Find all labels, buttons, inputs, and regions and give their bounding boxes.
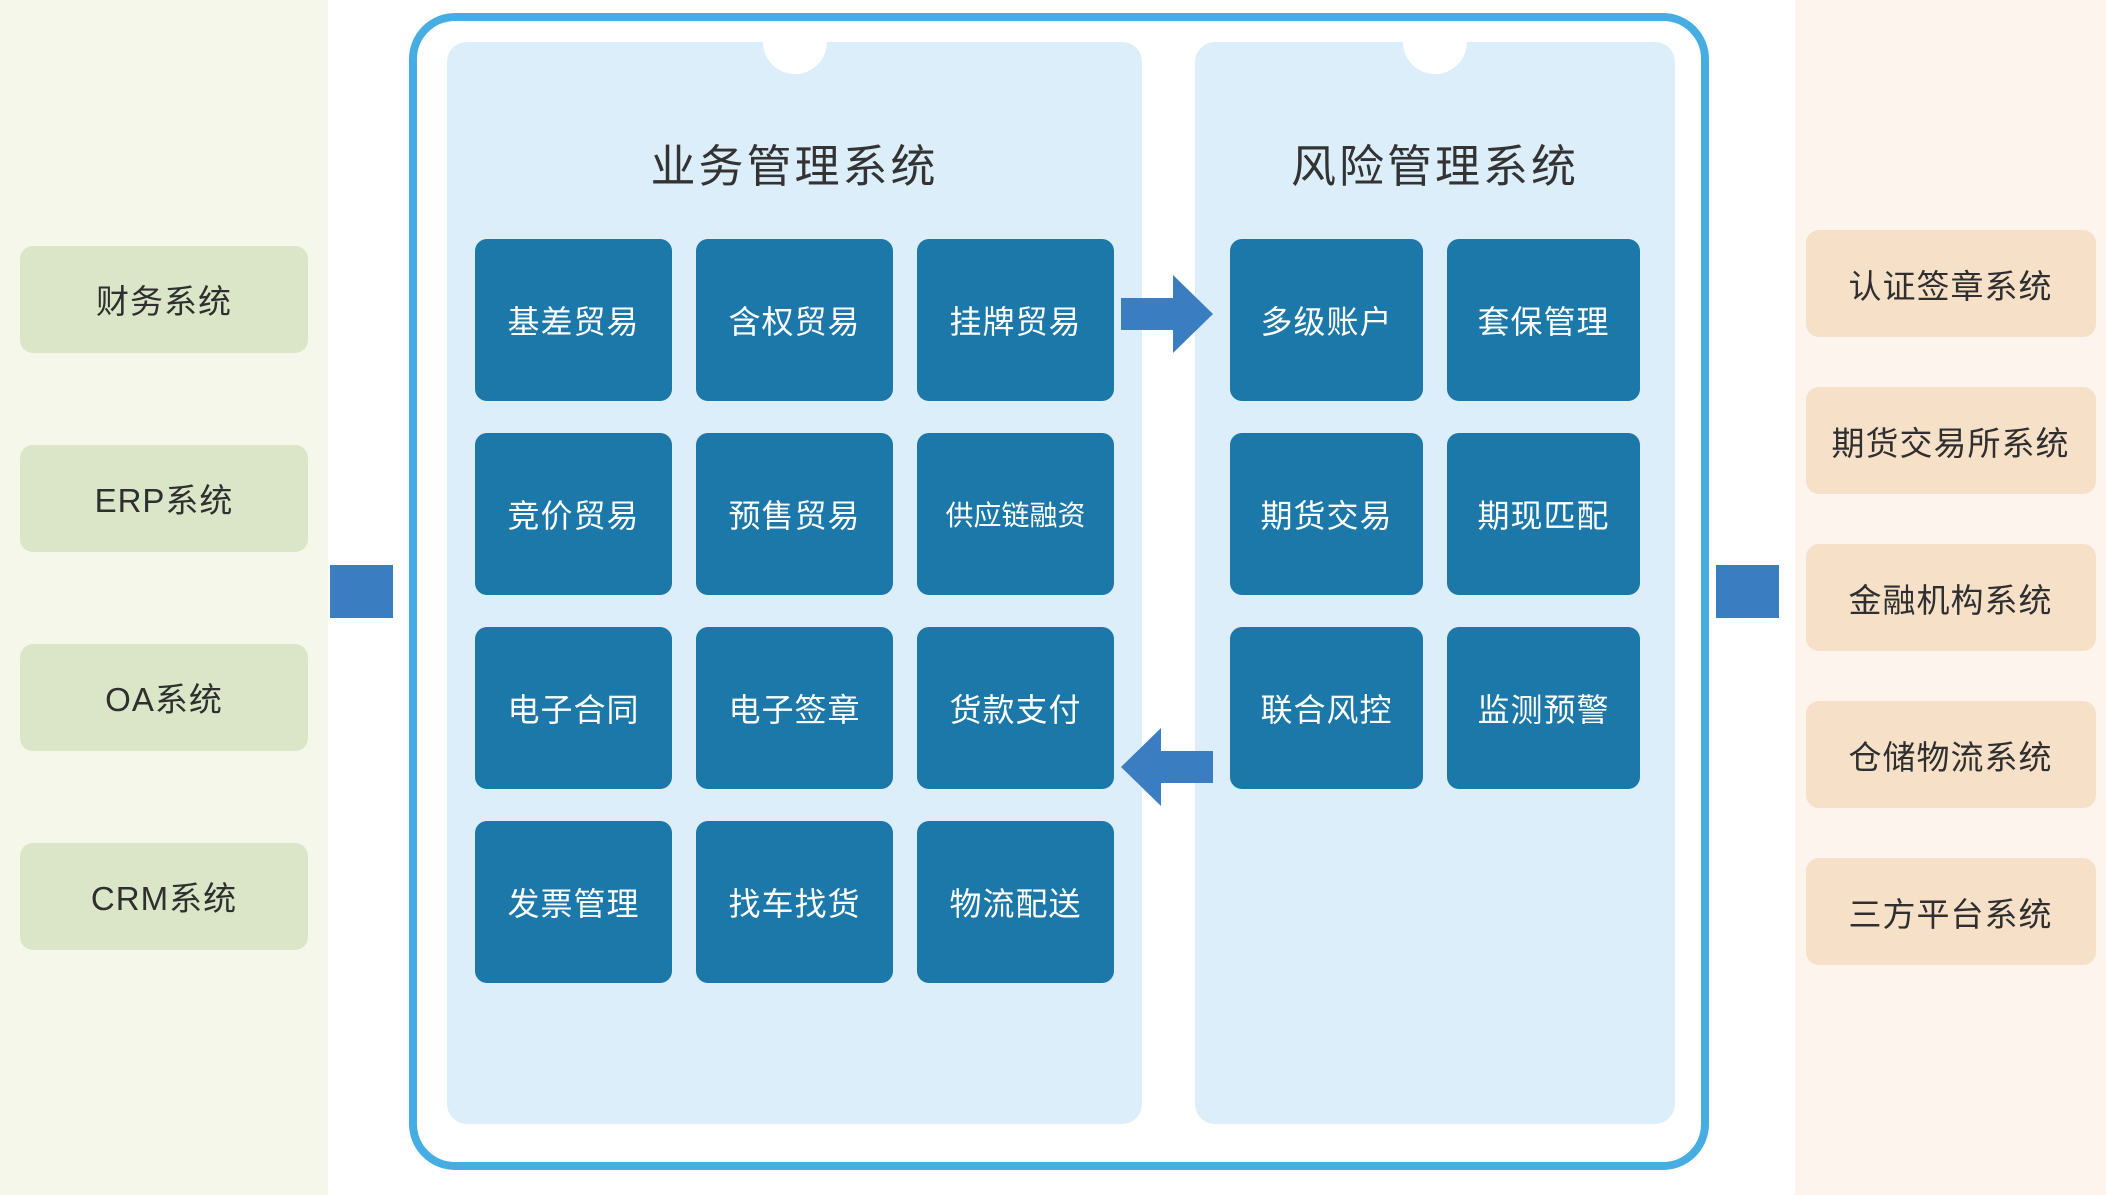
tile-label: 找车找货 — [728, 879, 860, 925]
tile-zhaochezhaohuo[interactable]: 找车找货 — [696, 821, 893, 983]
tile-wuliupeisong[interactable]: 物流配送 — [917, 821, 1114, 983]
tile-label: 监测预警 — [1477, 685, 1609, 731]
right-system-card-5[interactable]: 三方平台系统 — [1806, 858, 2096, 965]
panel-container: 业务管理系统 基差贸易 含权贸易 挂牌贸易 竞价贸易 预售贸易 供应链融资 电子… — [447, 42, 1675, 1124]
left-system-card-4[interactable]: CRM系统 — [20, 843, 308, 950]
right-system-label-3: 金融机构系统 — [1849, 574, 2053, 622]
right-system-card-3[interactable]: 金融机构系统 — [1806, 544, 2096, 651]
right-system-card-4[interactable]: 仓储物流系统 — [1806, 701, 2096, 808]
left-system-label-1: 财务系统 — [96, 275, 232, 323]
tile-label: 电子签章 — [728, 685, 860, 731]
tile-label: 套保管理 — [1477, 297, 1609, 343]
arrow-right-icon — [1121, 275, 1213, 353]
left-system-rail: 财务系统 ERP系统 OA系统 CRM系统 — [0, 0, 328, 1195]
tile-jiancyujing[interactable]: 监测预警 — [1447, 627, 1640, 789]
tile-jichamaoyi[interactable]: 基差贸易 — [475, 239, 672, 401]
tile-label: 竞价贸易 — [507, 491, 639, 537]
tile-lianhefengkong[interactable]: 联合风控 — [1230, 627, 1423, 789]
left-system-card-3[interactable]: OA系统 — [20, 644, 308, 751]
tile-label: 期现匹配 — [1477, 491, 1609, 537]
tile-label: 挂牌贸易 — [949, 297, 1081, 343]
risk-tile-grid: 多级账户 套保管理 期货交易 期现匹配 联合风控 监测预警 — [1195, 239, 1675, 789]
tile-qixianpipei[interactable]: 期现匹配 — [1447, 433, 1640, 595]
left-system-label-2: ERP系统 — [95, 474, 234, 522]
right-system-rail: 认证签章系统 期货交易所系统 金融机构系统 仓储物流系统 三方平台系统 — [1795, 0, 2106, 1195]
right-system-card-2[interactable]: 期货交易所系统 — [1806, 387, 2096, 494]
left-system-card-1[interactable]: 财务系统 — [20, 246, 308, 353]
tile-label: 基差贸易 — [507, 297, 639, 343]
right-system-label-2: 期货交易所系统 — [1832, 417, 2070, 465]
right-connector-bar — [1716, 565, 1779, 618]
tile-label: 期货交易 — [1260, 491, 1392, 537]
tile-yushoumaoyi[interactable]: 预售贸易 — [696, 433, 893, 595]
tile-qihuojiaoyi[interactable]: 期货交易 — [1230, 433, 1423, 595]
tile-duojizhanghu[interactable]: 多级账户 — [1230, 239, 1423, 401]
tile-label: 联合风控 — [1260, 685, 1392, 731]
tile-label: 货款支付 — [949, 685, 1081, 731]
business-tile-grid: 基差贸易 含权贸易 挂牌贸易 竞价贸易 预售贸易 供应链融资 电子合同 电子签章… — [447, 239, 1142, 983]
tile-dianziqianzhang[interactable]: 电子签章 — [696, 627, 893, 789]
right-system-card-1[interactable]: 认证签章系统 — [1806, 230, 2096, 337]
tile-label: 预售贸易 — [728, 491, 860, 537]
panel-business-management: 业务管理系统 基差贸易 含权贸易 挂牌贸易 竞价贸易 预售贸易 供应链融资 电子… — [447, 42, 1142, 1124]
arrow-left-icon — [1121, 728, 1213, 806]
left-system-card-2[interactable]: ERP系统 — [20, 445, 308, 552]
left-system-label-3: OA系统 — [105, 673, 223, 721]
right-system-label-4: 仓储物流系统 — [1849, 731, 2053, 779]
tile-gongyinglianrongzi[interactable]: 供应链融资 — [917, 433, 1114, 595]
tile-taobaoguanli[interactable]: 套保管理 — [1447, 239, 1640, 401]
tile-guapaimaoyi[interactable]: 挂牌贸易 — [917, 239, 1114, 401]
tile-jingjiamaoyi[interactable]: 竞价贸易 — [475, 433, 672, 595]
tile-huokuanzhifu[interactable]: 货款支付 — [917, 627, 1114, 789]
tile-label: 发票管理 — [507, 879, 639, 925]
tile-label: 电子合同 — [507, 685, 639, 731]
architecture-diagram: 财务系统 ERP系统 OA系统 CRM系统 认证签章系统 期货交易所系统 金融机… — [0, 0, 2106, 1195]
left-connector-bar — [330, 565, 393, 618]
right-system-label-1: 认证签章系统 — [1849, 260, 2053, 308]
tile-dianzihetong[interactable]: 电子合同 — [475, 627, 672, 789]
tile-hanquanmaoyi[interactable]: 含权贸易 — [696, 239, 893, 401]
tile-label: 含权贸易 — [728, 297, 860, 343]
tile-label: 物流配送 — [949, 879, 1081, 925]
tile-label: 多级账户 — [1260, 297, 1392, 343]
left-system-label-4: CRM系统 — [91, 872, 237, 920]
tile-label: 供应链融资 — [945, 494, 1085, 534]
tile-fapiaoguanli[interactable]: 发票管理 — [475, 821, 672, 983]
right-system-label-5: 三方平台系统 — [1849, 888, 2053, 936]
panel-risk-management: 风险管理系统 多级账户 套保管理 期货交易 期现匹配 联合风控 监测预警 — [1195, 42, 1675, 1124]
